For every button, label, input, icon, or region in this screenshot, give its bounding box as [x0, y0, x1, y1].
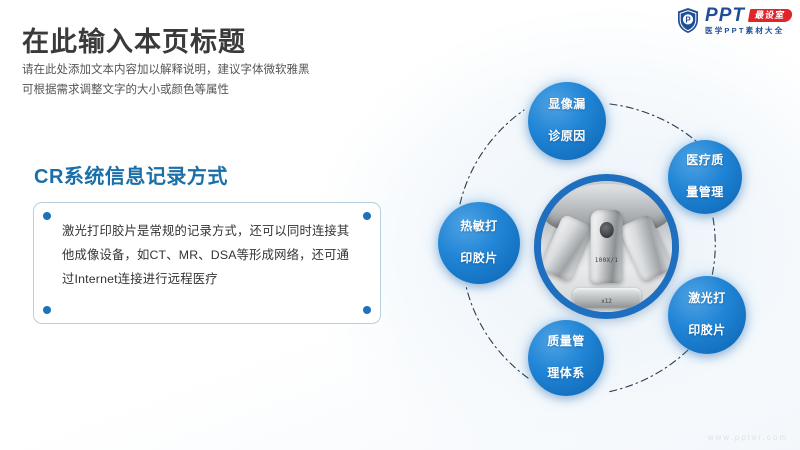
page-title: 在此输入本页标题	[22, 20, 246, 59]
card-corner-dot-top-left	[43, 212, 51, 220]
subtitle-line-1: 请在此处添加文本内容加以解释说明，建议字体微软雅黑	[22, 60, 382, 80]
diagram-bubble-bottom-label: 质量管 理体系	[547, 334, 585, 381]
brand-logo: P PPT 最设室 医学PPT素材大全	[676, 6, 792, 35]
bubble-left-line-2: 印胶片	[460, 251, 498, 267]
footer-watermark: www.ppter.com	[708, 433, 788, 442]
connector-lower-right-to-bottom	[608, 350, 688, 392]
circular-diagram: 100X/1 x12 显像漏 诊原因 医疗质 量管理 热敏打 印胶片 激光打 印…	[420, 78, 800, 423]
microscope-objective-label: 100X/1	[595, 257, 618, 264]
diagram-bubble-left[interactable]: 热敏打 印胶片	[438, 202, 520, 284]
microscope-photo: 100X/1 x12	[541, 181, 672, 312]
shield-icon: P	[676, 7, 700, 34]
bubble-lower-right-line-1: 激光打	[688, 291, 726, 307]
bubble-bottom-line-2: 理体系	[547, 366, 585, 382]
bubble-upper-right-line-1: 医疗质	[686, 153, 724, 169]
diagram-bubble-top-label: 显像漏 诊原因	[548, 97, 586, 144]
bubble-top-line-2: 诊原因	[548, 129, 586, 145]
microscope-stage-label: x12	[601, 298, 612, 305]
center-photo-disc: 100X/1 x12	[534, 174, 679, 319]
bubble-lower-right-line-2: 印胶片	[688, 323, 726, 339]
bubble-bottom-line-1: 质量管	[547, 334, 585, 350]
diagram-bubble-upper-right-label: 医疗质 量管理	[686, 153, 724, 200]
logo-brand-text: PPT	[705, 6, 745, 25]
card-corner-dot-top-right	[363, 212, 371, 220]
connector-left-to-top	[460, 110, 524, 204]
connector-bottom-to-left	[466, 286, 528, 378]
bubble-upper-right-line-2: 量管理	[686, 185, 724, 201]
logo-tagline: 医学PPT素材大全	[705, 27, 792, 35]
card-corner-dot-bottom-left	[43, 306, 51, 314]
card-corner-dot-bottom-right	[363, 306, 371, 314]
bubble-top-line-1: 显像漏	[548, 97, 586, 113]
page-subtitle: 请在此处添加文本内容加以解释说明，建议字体微软雅黑 可根据需求调整文字的大小或颜…	[22, 60, 382, 100]
diagram-bubble-lower-right[interactable]: 激光打 印胶片	[668, 276, 746, 354]
section-heading: CR系统信息记录方式	[34, 160, 228, 189]
diagram-bubble-lower-right-label: 激光打 印胶片	[688, 291, 726, 338]
body-paragraph: 激光打印胶片是常规的记录方式，还可以同时连接其他成像设备，如CT、MR、DSA等…	[62, 220, 358, 292]
body-text-card: 激光打印胶片是常规的记录方式，还可以同时连接其他成像设备，如CT、MR、DSA等…	[33, 202, 381, 324]
microscope-objective-center	[590, 210, 623, 283]
diagram-bubble-upper-right[interactable]: 医疗质 量管理	[668, 140, 742, 214]
diagram-bubble-top[interactable]: 显像漏 诊原因	[528, 82, 606, 160]
diagram-bubble-bottom[interactable]: 质量管 理体系	[528, 320, 604, 396]
svg-text:P: P	[685, 15, 691, 24]
logo-badge: 最设室	[748, 9, 793, 22]
diagram-bubble-left-label: 热敏打 印胶片	[460, 219, 498, 266]
subtitle-line-2: 可根据需求调整文字的大小或颜色等属性	[22, 80, 382, 100]
connector-upper-right-to-lower-right	[712, 218, 715, 276]
bubble-left-line-1: 热敏打	[460, 219, 498, 235]
